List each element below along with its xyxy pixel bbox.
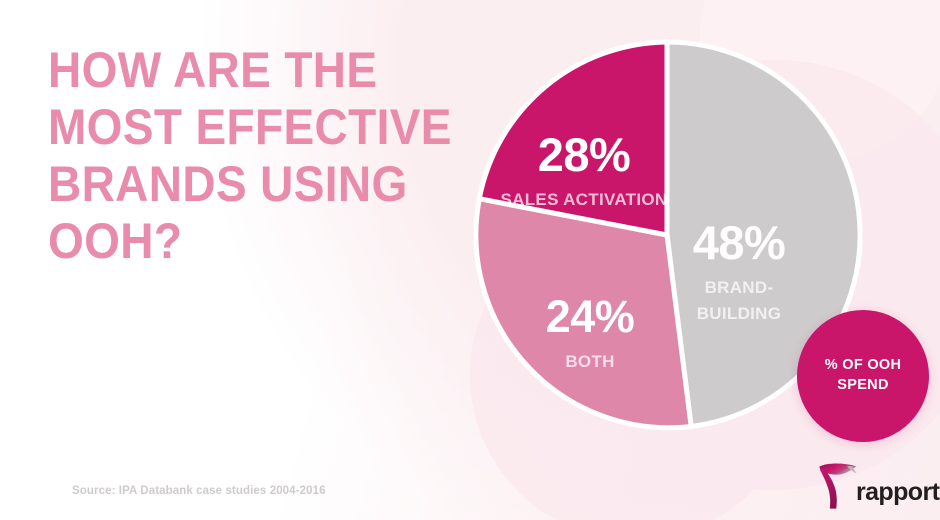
ooh-spend-badge: % OF OOH SPEND [797, 310, 929, 442]
rapport-wordmark: rapport™ [856, 478, 940, 507]
badge-line-2: SPEND [837, 376, 888, 396]
slide-canvas: HOW ARE THE MOST EFFECTIVE BRANDS USING … [0, 0, 940, 520]
rapport-wordmark-text: rapport [856, 478, 939, 506]
pie-value-both: 24% [546, 291, 635, 342]
headline-line-4: OOH? [48, 213, 444, 270]
headline-line-1: HOW ARE THE [48, 42, 444, 99]
headline-line-3: BRANDS USING [48, 156, 444, 213]
headline-line-2: MOST EFFECTIVE [48, 99, 444, 156]
pie-label-brand-building-line-1: BRAND- [705, 278, 774, 297]
badge-line-1: % OF OOH [825, 356, 902, 376]
pie-label-sales-activation: SALES ACTIVATION [501, 190, 668, 209]
source-note: Source: IPA Databank case studies 2004-2… [72, 485, 326, 497]
rapport-logo: rapport™ [818, 458, 930, 510]
pie-value-brand-building: 48% [693, 216, 786, 269]
pie-value-sales-activation: 28% [538, 128, 631, 181]
pie-label-brand-building-line-2: BUILDING [697, 304, 782, 323]
page-title: HOW ARE THE MOST EFFECTIVE BRANDS USING … [48, 42, 444, 270]
pie-label-both: BOTH [565, 352, 614, 371]
rapport-swoosh-icon [818, 460, 860, 510]
